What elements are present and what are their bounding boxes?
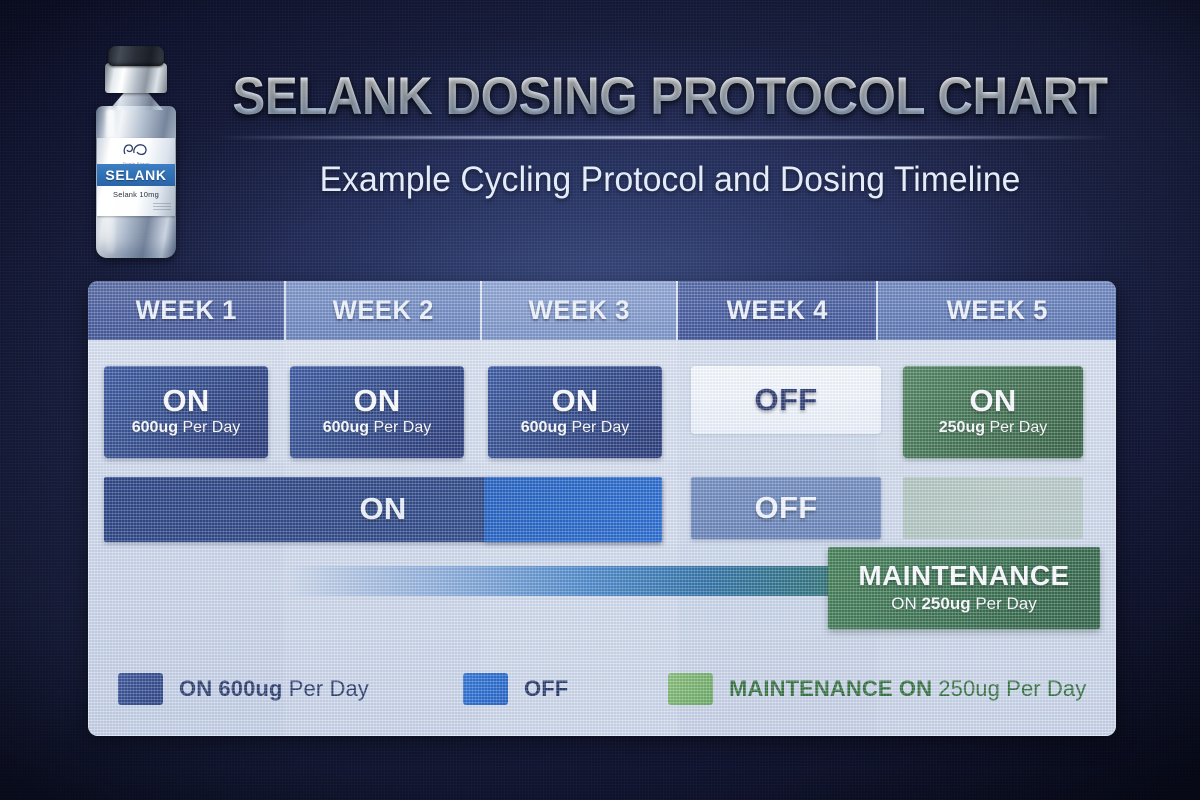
week-header-1: WEEK 1 <box>88 281 284 340</box>
maintenance-detail: ON 250ug Per Day <box>891 593 1037 615</box>
week-header-label: WEEK 1 <box>135 295 236 326</box>
legend-item-on600[interactable]: ON 600ug Per Day <box>118 673 369 705</box>
legend-label-bold: ON 600ug <box>179 676 283 701</box>
maintenance-title: MAINTENANCE <box>858 561 1069 590</box>
vial-shoulder <box>109 90 163 110</box>
dose-card-week5[interactable]: ON 250ug Per Day <box>903 366 1083 458</box>
week-header-label: WEEK 3 <box>528 295 629 326</box>
page-title: SELANK DOSING PROTOCOL CHART <box>224 66 1117 127</box>
protocol-chart-panel: WEEK 1 WEEK 2 WEEK 3 WEEK 4 WEEK 5 ON 60… <box>88 281 1116 736</box>
dose-state: OFF <box>755 384 818 416</box>
dose-card-week4[interactable]: OFF <box>691 366 881 434</box>
maintenance-block[interactable]: MAINTENANCE ON 250ug Per Day <box>828 547 1100 629</box>
dose-amount: 600ug Per Day <box>521 418 630 439</box>
week-header-2: WEEK 2 <box>286 281 480 340</box>
legend-label-on600: ON 600ug Per Day <box>179 676 369 702</box>
legend-label-bold: MAINTENANCE ON <box>729 676 932 701</box>
maintenance-prefix: ON <box>891 594 921 613</box>
dose-card-week2[interactable]: ON 600ug Per Day <box>290 366 464 458</box>
week-header-3: WEEK 3 <box>482 281 676 340</box>
legend-label-maintenance: MAINTENANCE ON 250ug Per Day <box>729 676 1086 702</box>
legend: ON 600ug Per Day OFF MAINTENANCE ON 250u… <box>88 661 1116 723</box>
vial-logo-icon: Single Pharm <box>97 142 175 166</box>
phase-label: OFF <box>755 492 818 524</box>
vial-strength-text: Selank 10mg <box>97 190 175 199</box>
dose-value: 600ug <box>521 419 567 436</box>
dose-card-week3[interactable]: ON 600ug Per Day <box>488 366 662 458</box>
legend-label-rest: 250ug Per Day <box>932 676 1086 701</box>
dose-value: 250ug <box>939 419 985 436</box>
phase-label: ON <box>359 493 406 525</box>
dose-state: ON <box>969 385 1016 417</box>
week-header-label: WEEK 4 <box>726 295 827 326</box>
vial-neck <box>105 63 167 93</box>
vial-label: Single Pharm SELANK Selank 10mg <box>97 138 175 216</box>
dose-amount: 600ug Per Day <box>132 418 241 439</box>
legend-label-off: OFF <box>524 676 568 702</box>
dose-state: ON <box>162 385 209 417</box>
phase-bar-maintenance-week5[interactable] <box>903 477 1083 539</box>
dose-state: ON <box>551 385 598 417</box>
week-header-5: WEEK 5 <box>878 281 1116 340</box>
week-header-label: WEEK 5 <box>946 295 1047 326</box>
week-header-row: WEEK 1 WEEK 2 WEEK 3 WEEK 4 WEEK 5 <box>88 281 1116 340</box>
maintenance-dose: 250ug <box>921 594 970 613</box>
selank-vial-image: Single Pharm SELANK Selank 10mg <box>86 46 186 261</box>
legend-label-bold: OFF <box>524 676 568 701</box>
dose-value: 600ug <box>132 419 178 436</box>
title-divider <box>215 136 1115 139</box>
dose-state: ON <box>353 385 400 417</box>
legend-swatch-on600 <box>118 673 163 705</box>
legend-swatch-off <box>463 673 508 705</box>
legend-swatch-maintenance <box>668 673 713 705</box>
dose-unit: Per Day <box>985 419 1047 436</box>
vial-cap <box>108 46 164 66</box>
vial-brand-name: SELANK <box>105 167 166 183</box>
legend-item-maintenance[interactable]: MAINTENANCE ON 250ug Per Day <box>668 673 1086 705</box>
maintenance-unit: Per Day <box>971 594 1037 613</box>
dose-card-week1[interactable]: ON 600ug Per Day <box>104 366 268 458</box>
week-header-4: WEEK 4 <box>678 281 876 340</box>
dose-value: 600ug <box>323 419 369 436</box>
phase-bar-on-week3-highlight[interactable] <box>484 477 662 542</box>
dose-unit: Per Day <box>567 419 629 436</box>
phase-bar-off-week4[interactable]: OFF <box>691 477 881 539</box>
dose-unit: Per Day <box>178 419 240 436</box>
dose-amount: 250ug Per Day <box>939 418 1048 439</box>
legend-item-off[interactable]: OFF <box>463 673 568 705</box>
vial-fine-print <box>153 203 171 212</box>
legend-label-rest: Per Day <box>283 676 369 701</box>
dose-unit: Per Day <box>369 419 431 436</box>
page-subtitle: Example Cycling Protocol and Dosing Time… <box>209 160 1131 200</box>
dose-amount: 600ug Per Day <box>323 418 432 439</box>
week-header-label: WEEK 2 <box>332 295 433 326</box>
vial-brand-band: SELANK <box>97 164 175 186</box>
